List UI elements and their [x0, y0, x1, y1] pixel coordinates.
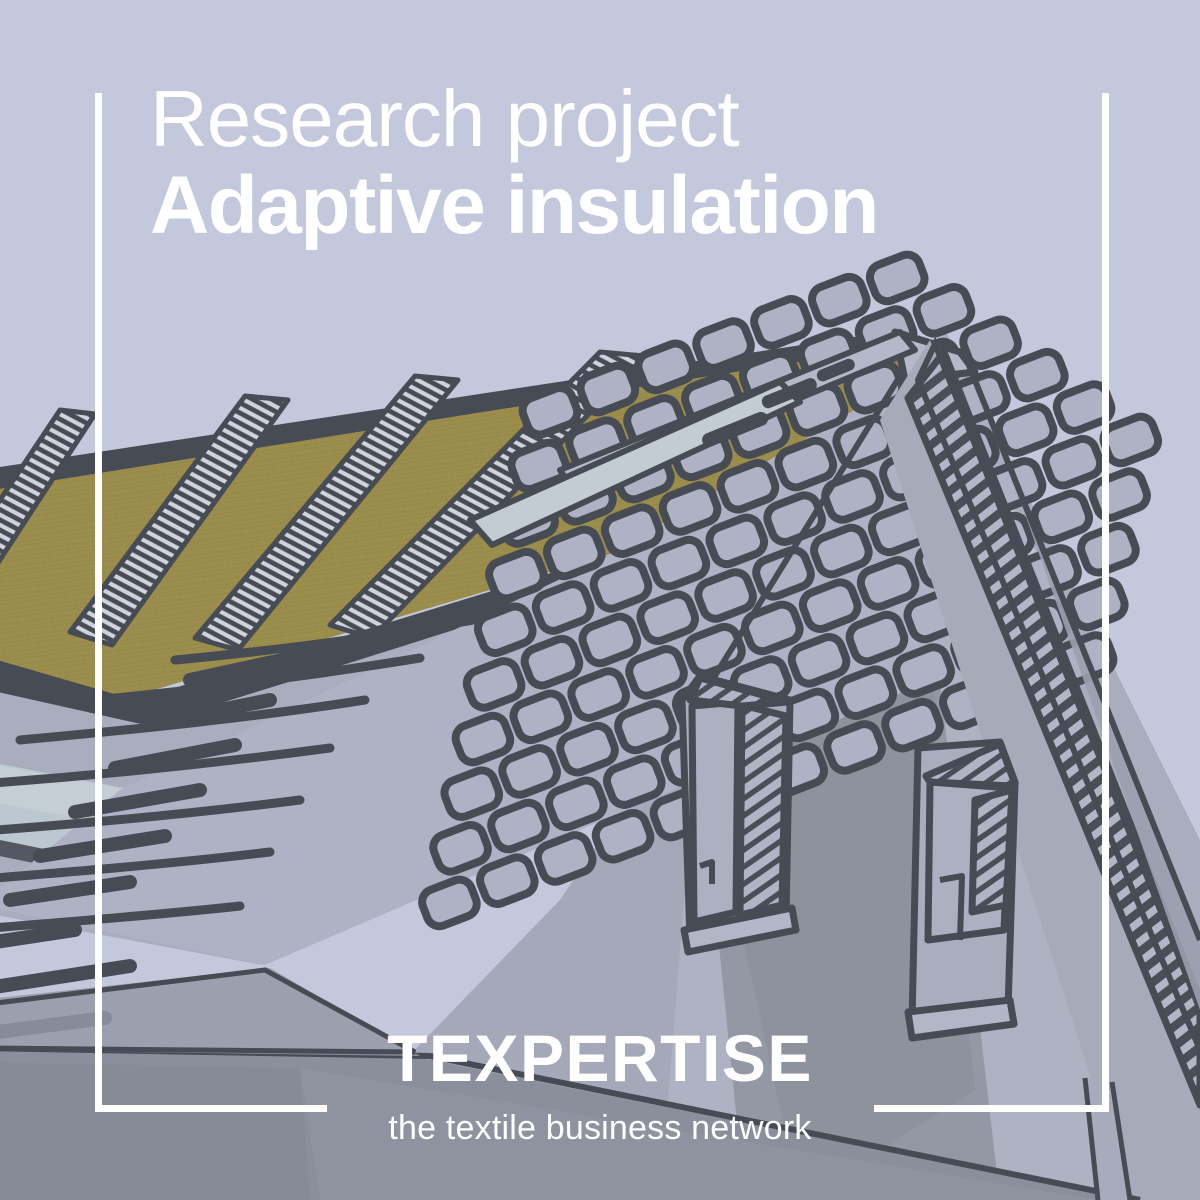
- logo-wordmark: TEXPERTISE: [0, 1025, 1200, 1091]
- frame-rule-left: [95, 93, 102, 1112]
- poster-canvas: Research project Adaptive insulation TEX…: [0, 0, 1200, 1200]
- logo-tagline: the textile business network: [0, 1111, 1200, 1145]
- headline-block: Research project Adaptive insulation: [150, 80, 878, 247]
- headline-line-2: Adaptive insulation: [150, 166, 878, 246]
- headline-line-1: Research project: [150, 80, 878, 158]
- frame-rule-right: [1102, 93, 1109, 1112]
- texpertise-logo: TEXPERTISE the textile business network: [0, 1025, 1200, 1145]
